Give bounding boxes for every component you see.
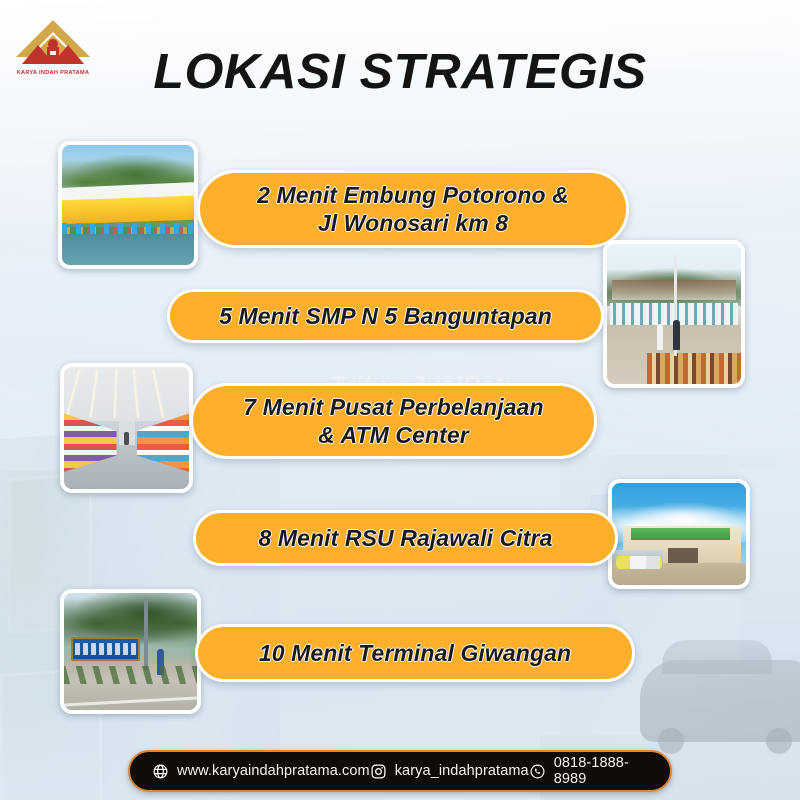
footer-website[interactable]: www.karyaindahpratama.com (152, 763, 370, 780)
info-pill-3[interactable]: 7 Menit Pusat Perbelanjaan & ATM Center (190, 383, 597, 459)
info-pill-2[interactable]: 5 Menit SMP N 5 Banguntapan (167, 289, 604, 343)
page-title: LOKASI STRATEGIS (0, 44, 800, 100)
footer-phone-text: 0818-1888-8989 (554, 755, 648, 787)
poster-canvas: KARYA INDAH PRATAMA LOKASI STRATEGIS 2 M… (0, 0, 800, 800)
whatsapp-icon (529, 763, 546, 780)
photo-smp-n-5-banguntapan (603, 240, 745, 388)
info-pill-4[interactable]: 8 Menit RSU Rajawali Citra (193, 510, 618, 566)
info-pill-3-label: 7 Menit Pusat Perbelanjaan & ATM Center (243, 393, 543, 449)
info-pill-2-label: 5 Menit SMP N 5 Banguntapan (219, 302, 552, 330)
info-pill-5[interactable]: 10 Menit Terminal Giwangan (195, 624, 635, 682)
info-pill-5-label: 10 Menit Terminal Giwangan (259, 639, 571, 667)
poster-header: KARYA INDAH PRATAMA LOKASI STRATEGIS (0, 0, 800, 130)
photo-terminal-giwangan (60, 589, 201, 714)
photo-pusat-perbelanjaan (60, 363, 193, 493)
info-pill-4-label: 8 Menit RSU Rajawali Citra (258, 524, 552, 552)
info-pill-1-label: 2 Menit Embung Potorono & Jl Wonosari km… (257, 181, 569, 237)
globe-icon (152, 763, 169, 780)
photo-rsu-rajawali-citra (608, 479, 750, 589)
contact-footer-bar: www.karyaindahpratama.com karya_indahpra… (128, 750, 672, 792)
footer-instagram-text: karya_indahpratama (395, 763, 529, 779)
footer-website-text: www.karyaindahpratama.com (177, 763, 370, 779)
background-car (640, 660, 800, 742)
photo-embung-potorono (58, 141, 198, 269)
footer-instagram[interactable]: karya_indahpratama (370, 763, 529, 780)
footer-phone[interactable]: 0818-1888-8989 (529, 755, 648, 787)
instagram-icon (370, 763, 387, 780)
info-pill-1[interactable]: 2 Menit Embung Potorono & Jl Wonosari km… (197, 170, 629, 248)
